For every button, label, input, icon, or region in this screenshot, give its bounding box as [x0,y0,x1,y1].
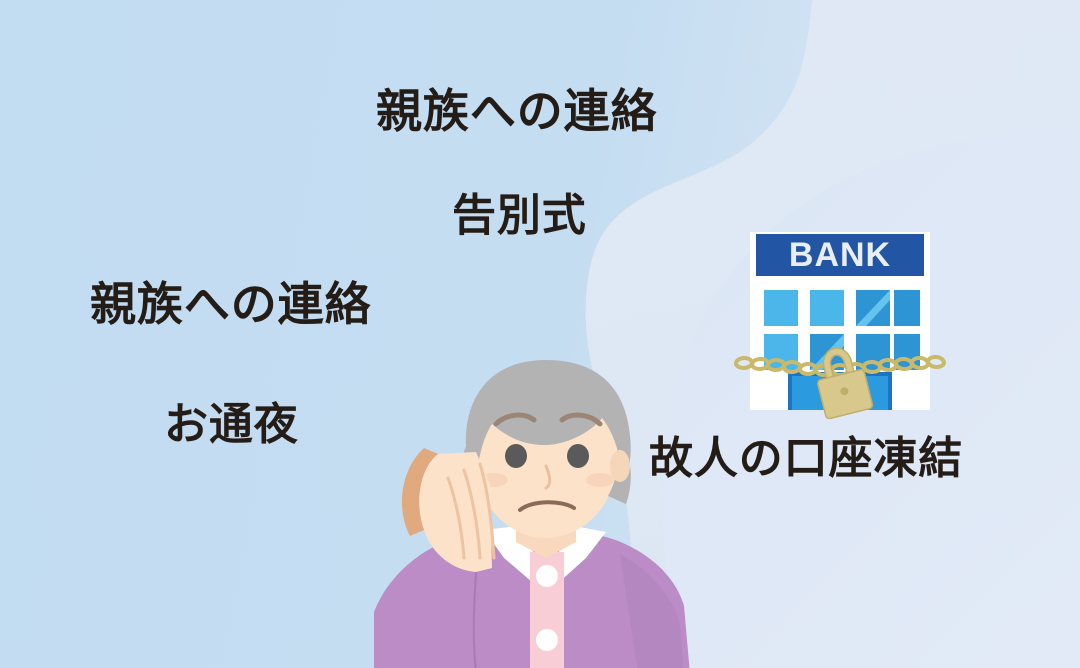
label-wake: お通夜 [164,403,299,447]
label-relatives-contact-top: 親族への連絡 [376,88,658,134]
eye-left [505,444,527,468]
bank-window [764,290,798,326]
bank-sign-text: BANK [789,236,891,274]
label-relatives-contact-middle: 親族への連絡 [90,281,372,327]
ear-right [610,450,630,482]
worried-elderly-woman-illustration [380,344,710,668]
bank-window [894,290,920,326]
bank-building-icon: BANK [742,222,938,414]
bank-window-row-1 [764,290,920,326]
bank-window [810,290,844,326]
label-farewell-ceremony: 告別式 [452,194,587,238]
illustration-scene: 親族への連絡 告別式 親族への連絡 お通夜 故人の口座凍結 BANK [0,0,1080,668]
hand [402,448,494,572]
shirt-button [536,565,558,587]
shirt-button [536,629,558,651]
eye-right [567,444,589,468]
cheek-blush-right [586,473,614,487]
